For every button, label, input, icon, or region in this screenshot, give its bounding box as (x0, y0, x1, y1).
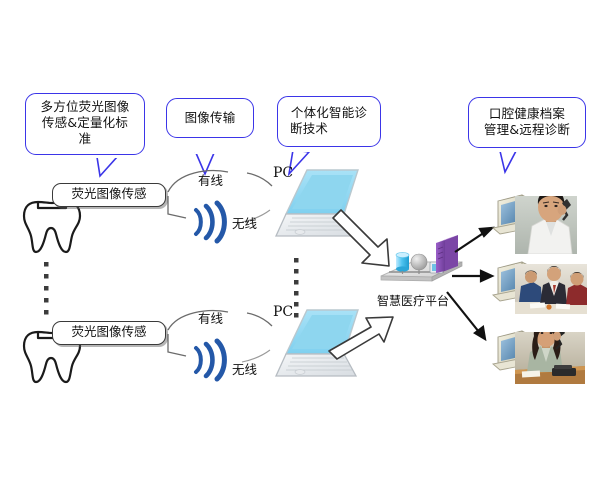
wireless-label-lower: 无线 (232, 359, 257, 378)
callout-line-1: 多方位荧光图像 (32, 99, 138, 115)
callout-line-3: 准 (32, 131, 138, 147)
callout-tail-masks (96, 146, 519, 158)
callout-multi-angle-sensing[interactable]: 多方位荧光图像 传感&定量化标 准 (25, 93, 145, 155)
callout-line-1: 口腔健康档案 (475, 106, 579, 122)
photo-team-meeting (515, 264, 587, 314)
callout-line-2: 断技术 (284, 121, 374, 137)
callout-line-2: 传感&定量化标 (32, 115, 138, 131)
pc-label-upper: PC (273, 165, 293, 181)
callout-line-2: 管理&远程诊断 (475, 122, 579, 138)
callout-image-transmission[interactable]: 图像传输 (166, 98, 254, 138)
dotted-divider-middle (294, 258, 299, 318)
pc-label-lower: PC (273, 304, 293, 320)
wifi-arcs-upper (196, 203, 224, 241)
platform-label: 智慧医疗平台 (377, 292, 449, 309)
smart-healthcare-platform-icon (381, 235, 462, 281)
photo-doctor-on-phone (515, 190, 577, 254)
diagram-canvas: 多方位荧光图像 传感&定量化标 准 图像传输 个体化智能诊 断技术 口腔健康档案… (0, 0, 600, 500)
wired-label-upper: 有线 (198, 170, 223, 189)
tooth-upper-icon (24, 202, 80, 252)
connector-layer (0, 0, 600, 500)
callout-line-1: 个体化智能诊 (284, 105, 374, 121)
sensor-label-upper: 荧光图像传感 (71, 186, 146, 201)
sensor-box-lower[interactable]: 荧光图像传感 (52, 321, 166, 345)
sensor-label-lower: 荧光图像传感 (71, 324, 146, 339)
wireless-label-upper: 无线 (232, 213, 257, 232)
dotted-divider-left (44, 262, 49, 315)
sensor-box-upper[interactable]: 荧光图像传感 (52, 183, 166, 207)
arrow-upper-laptop-to-platform (333, 210, 389, 266)
platform-cylinder (396, 252, 409, 274)
wired-label-lower: 有线 (198, 308, 223, 327)
photo-operator-on-phone (515, 321, 585, 384)
callout-line-1: 图像传输 (173, 110, 247, 126)
callout-intelligent-diagnosis[interactable]: 个体化智能诊 断技术 (277, 96, 381, 147)
callout-health-record[interactable]: 口腔健康档案 管理&远程诊断 (468, 97, 586, 148)
wifi-arcs-lower (196, 341, 224, 379)
